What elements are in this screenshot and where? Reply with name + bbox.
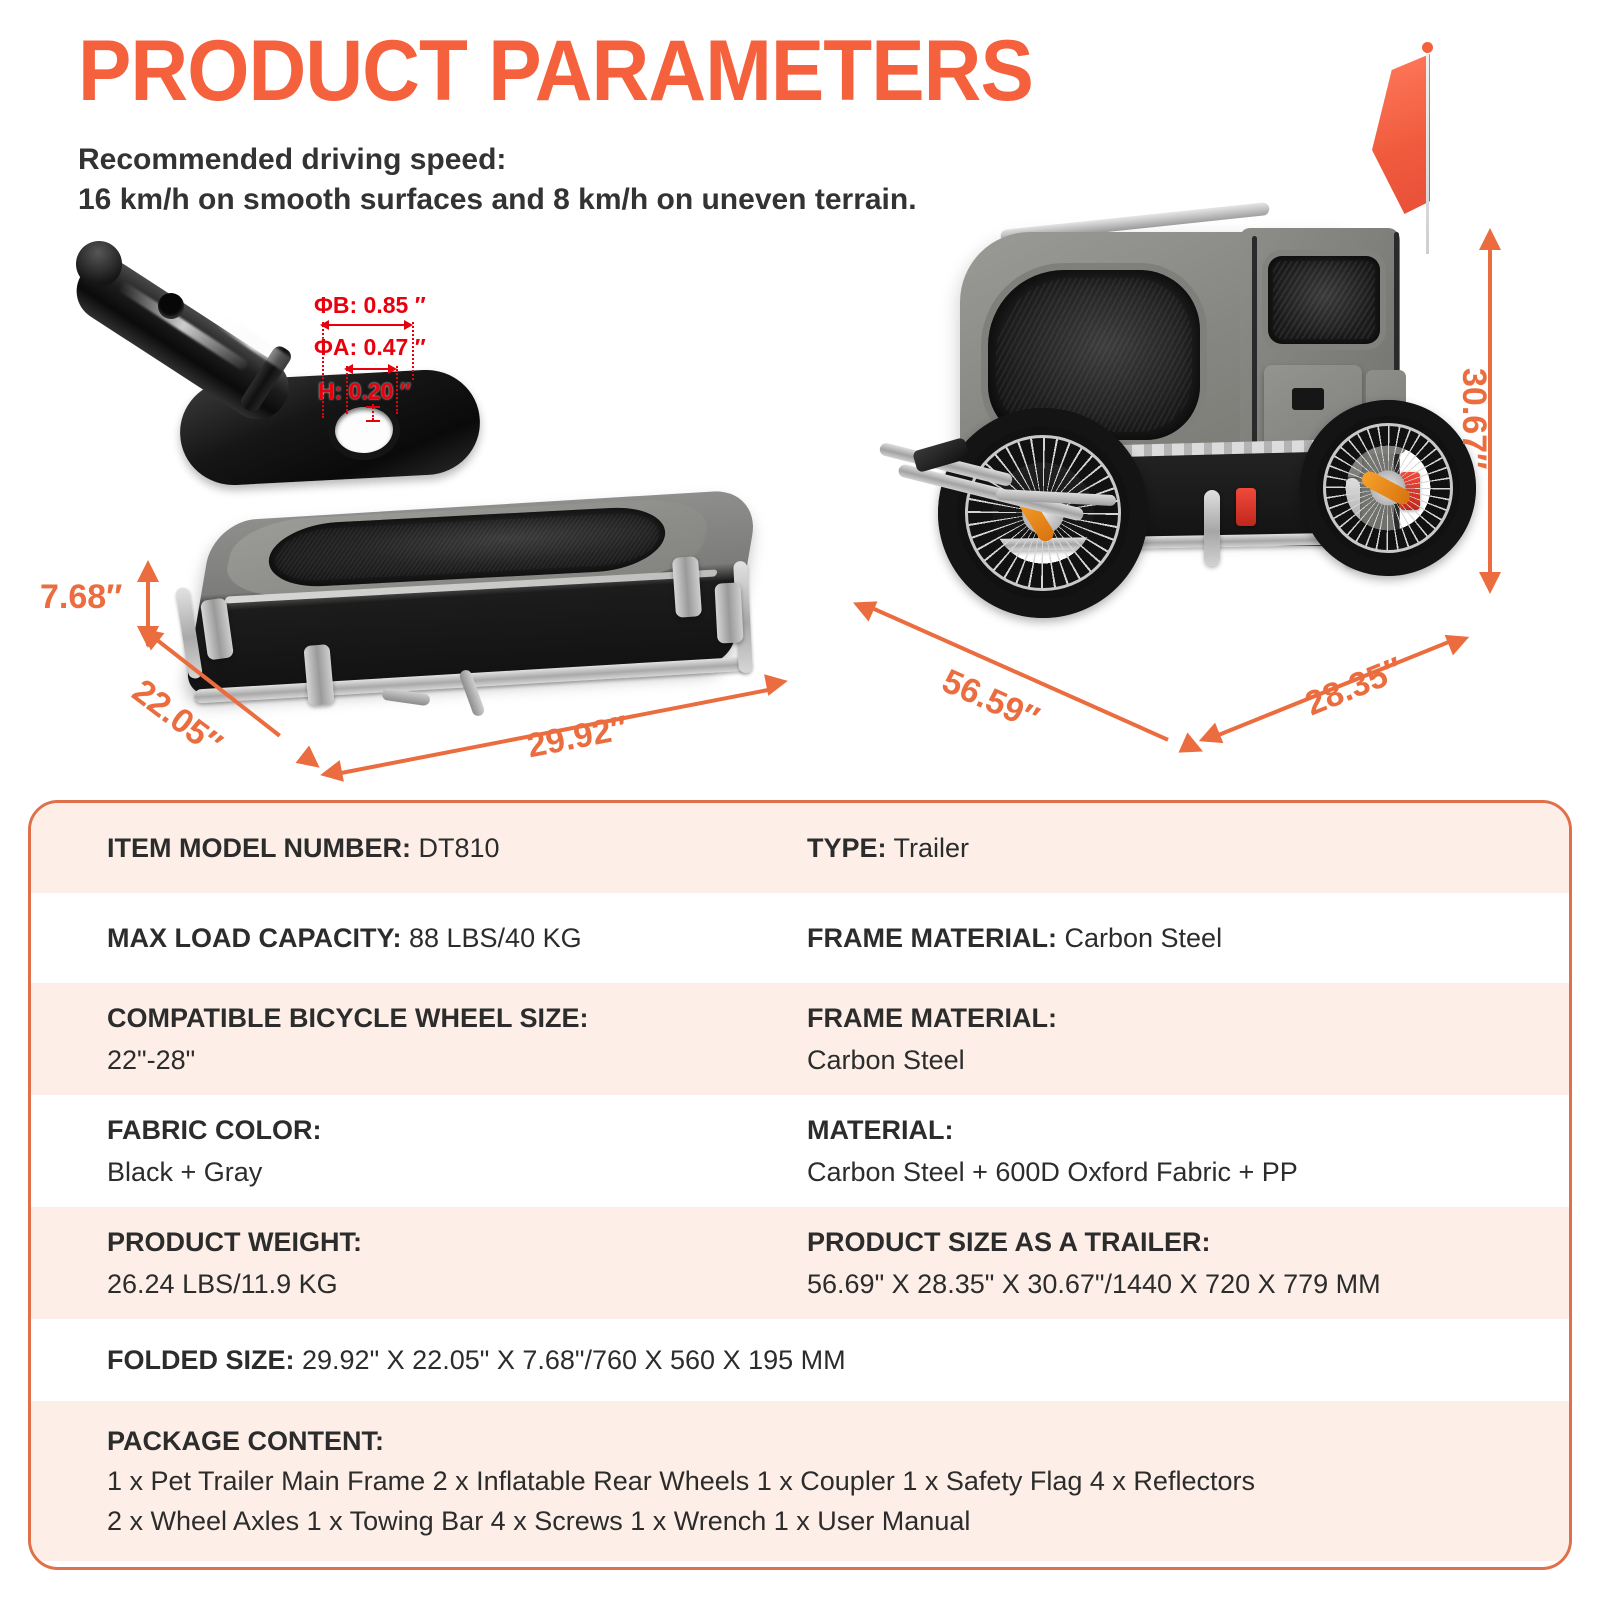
trailer-wheel-left (938, 408, 1148, 618)
callout-phi-b-label: ΦB: 0.85 ″ (314, 292, 426, 319)
trailer-height-arrow-down (1479, 572, 1501, 594)
package-content-line-2: 2 x Wheel Axles 1 x Towing Bar 4 x Screw… (107, 1501, 1551, 1541)
package-content-line-1: 1 x Pet Trailer Main Frame 2 x Inflatabl… (107, 1461, 1551, 1501)
trailer-velcro-patch (1292, 388, 1324, 410)
folded-width-arrow-end (764, 670, 790, 696)
spec-value: Trailer (887, 833, 970, 863)
table-row: FOLDED SIZE: 29.92" X 22.05" X 7.68"/760… (31, 1319, 1569, 1401)
spec-line: ITEM MODEL NUMBER: DT810 (107, 828, 791, 868)
callout-phi-b-arrow-right (404, 320, 413, 330)
callout-height-line (372, 404, 374, 420)
callout-phi-a-arrow-right (388, 364, 397, 374)
spec-cell-model-number: ITEM MODEL NUMBER: DT810 (107, 828, 807, 868)
safety-flag (1372, 54, 1430, 214)
callout-phi-b-arrow-left (320, 320, 329, 330)
spec-label: PACKAGE CONTENT: (107, 1421, 1551, 1461)
trailer-frame-post-left (1204, 490, 1220, 566)
spec-label: ITEM MODEL NUMBER: (107, 833, 411, 863)
spec-line: TYPE: Trailer (807, 828, 1551, 868)
spec-value: 26.24 LBS/11.9 KG (107, 1263, 791, 1305)
spec-label: COMPATIBLE BICYCLE WHEEL SIZE: (107, 997, 791, 1039)
spec-label: FABRIC COLOR: (107, 1109, 791, 1151)
spec-line: MAX LOAD CAPACITY: 88 LBS/40 KG (107, 918, 791, 958)
spec-cell-type: TYPE: Trailer (807, 828, 1567, 868)
spec-value: Carbon Steel (1057, 923, 1222, 953)
spec-cell-frame-material-2: FRAME MATERIAL: Carbon Steel (807, 997, 1567, 1081)
table-row: PRODUCT WEIGHT: 26.24 LBS/11.9 KG PRODUC… (31, 1207, 1569, 1319)
table-row: MAX LOAD CAPACITY: 88 LBS/40 KG FRAME MA… (31, 893, 1569, 983)
spec-label: FOLDED SIZE: (107, 1345, 295, 1375)
callout-height-tick-bottom (366, 420, 380, 422)
spec-label: MAX LOAD CAPACITY: (107, 923, 401, 953)
trailer-side-mesh-window (1268, 256, 1380, 344)
callout-phi-b-line (326, 324, 410, 326)
spec-value: 22"-28" (107, 1039, 791, 1081)
spec-label: TYPE: (807, 833, 887, 863)
speed-note-line-2: 16 km/h on smooth surfaces and 8 km/h on… (78, 180, 917, 220)
folded-bracket-rear-right (672, 556, 702, 618)
folded-height-arrow-up (137, 560, 159, 582)
spec-cell-frame-material: FRAME MATERIAL: Carbon Steel (807, 918, 1567, 958)
product-parameters-page: PRODUCT PARAMETERS Recommended driving s… (0, 0, 1600, 1600)
spec-label: MATERIAL: (807, 1109, 1551, 1151)
spec-cell-fabric-color: FABRIC COLOR: Black + Gray (107, 1109, 807, 1193)
spec-cell-material: MATERIAL: Carbon Steel + 600D Oxford Fab… (807, 1109, 1567, 1193)
spec-label: FRAME MATERIAL: (807, 997, 1551, 1039)
speed-note-line-1: Recommended driving speed: (78, 140, 917, 180)
spec-line: FOLDED SIZE: 29.92" X 22.05" X 7.68"/760… (107, 1340, 1551, 1380)
table-row: PACKAGE CONTENT: 1 x Pet Trailer Main Fr… (31, 1401, 1569, 1561)
table-row: COMPATIBLE BICYCLE WHEEL SIZE: 22"-28" F… (31, 983, 1569, 1095)
trailer-height-arrow-up (1479, 228, 1501, 250)
spec-line: FRAME MATERIAL: Carbon Steel (807, 918, 1551, 958)
spec-label: FRAME MATERIAL: (807, 923, 1057, 953)
callout-phi-a-label: ΦA: 0.47 ″ (314, 334, 426, 361)
spec-cell-wheel-size: COMPATIBLE BICYCLE WHEEL SIZE: 22"-28" (107, 997, 807, 1081)
table-row: ITEM MODEL NUMBER: DT810 TYPE: Trailer (31, 803, 1569, 893)
callout-phi-a-arrow-left (344, 364, 353, 374)
folded-axle-peg-left (381, 688, 430, 707)
folded-bracket-front-right (714, 582, 743, 643)
spec-value: 56.69" X 28.35" X 30.67"/1440 X 720 X 77… (807, 1263, 1551, 1305)
recommended-speed-note: Recommended driving speed: 16 km/h on sm… (78, 140, 917, 220)
callout-height-label: H: 0.20 ″ (318, 378, 411, 405)
spec-value: 88 LBS/40 KG (401, 923, 581, 953)
spec-cell-max-load: MAX LOAD CAPACITY: 88 LBS/40 KG (107, 918, 807, 958)
spec-cell-folded-size: FOLDED SIZE: 29.92" X 22.05" X 7.68"/760… (107, 1340, 1567, 1380)
spec-value: Carbon Steel (807, 1039, 1551, 1081)
folded-width-arrow-start (318, 760, 344, 786)
spec-cell-package-content: PACKAGE CONTENT: 1 x Pet Trailer Main Fr… (107, 1421, 1567, 1541)
spec-value: Black + Gray (107, 1151, 791, 1193)
safety-flag-pole (1426, 48, 1429, 254)
spec-cell-trailer-size: PRODUCT SIZE AS A TRAILER: 56.69" X 28.3… (807, 1221, 1567, 1305)
trailer-reflector-rear (1236, 488, 1256, 526)
spec-label: PRODUCT WEIGHT: (107, 1221, 791, 1263)
spec-label: PRODUCT SIZE AS A TRAILER: (807, 1221, 1551, 1263)
specification-table: ITEM MODEL NUMBER: DT810 TYPE: Trailer M… (28, 800, 1572, 1570)
spec-value: Carbon Steel + 600D Oxford Fabric + PP (807, 1151, 1551, 1193)
table-row: FABRIC COLOR: Black + Gray MATERIAL: Car… (31, 1095, 1569, 1207)
spec-value: 29.92" X 22.05" X 7.68"/760 X 560 X 195 … (295, 1345, 846, 1375)
safety-flag-knob (1422, 42, 1433, 53)
trailer-illustration (860, 20, 1480, 720)
folded-bracket-front-left (303, 644, 334, 706)
folded-height-dimension: 7.68″ (40, 578, 122, 617)
spec-cell-product-weight: PRODUCT WEIGHT: 26.24 LBS/11.9 KG (107, 1221, 807, 1305)
trailer-height-line (1488, 250, 1492, 590)
spec-value: DT810 (411, 833, 500, 863)
